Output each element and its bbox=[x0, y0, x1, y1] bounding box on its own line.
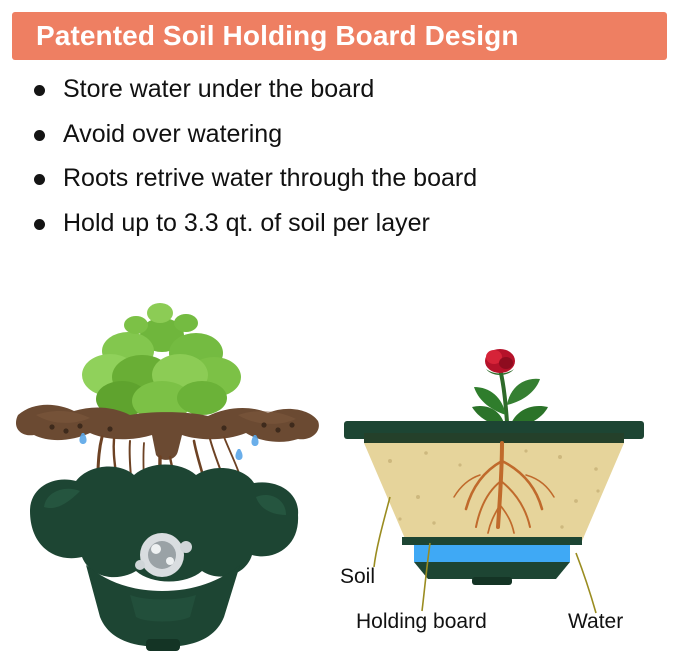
water-reservoir bbox=[414, 545, 570, 562]
bullet-dot-icon bbox=[34, 174, 45, 185]
list-item-label: Roots retrive water through the board bbox=[63, 161, 477, 197]
list-item-label: Store water under the board bbox=[63, 72, 374, 108]
cross-section-illustration bbox=[330, 265, 679, 660]
soil-fill bbox=[364, 443, 624, 541]
feature-list: Store water under the board Avoid over w… bbox=[22, 72, 662, 250]
bullet-dot-icon bbox=[34, 130, 45, 141]
list-item: Store water under the board bbox=[22, 72, 662, 108]
label-water: Water bbox=[568, 610, 623, 634]
list-item: Avoid over watering bbox=[22, 117, 662, 153]
label-soil: Soil bbox=[340, 565, 375, 589]
label-holding-board: Holding board bbox=[356, 610, 487, 634]
figure-row: Soil Holding board Water bbox=[0, 265, 679, 660]
bullet-dot-icon bbox=[34, 219, 45, 230]
list-item-label: Avoid over watering bbox=[63, 117, 282, 153]
cross-section-diagram: Soil Holding board Water bbox=[330, 265, 679, 660]
page-title: Patented Soil Holding Board Design bbox=[12, 20, 519, 52]
list-item: Roots retrive water through the board bbox=[22, 161, 662, 197]
product-infographic: Patented Soil Holding Board Design Store… bbox=[0, 0, 679, 660]
holding-board-layer bbox=[402, 537, 582, 545]
list-item: Hold up to 3.3 qt. of soil per layer bbox=[22, 206, 662, 242]
pot-foot bbox=[472, 577, 512, 585]
header-banner: Patented Soil Holding Board Design bbox=[12, 12, 667, 60]
planter-tier-middle bbox=[30, 465, 298, 582]
list-item-label: Hold up to 3.3 qt. of soil per layer bbox=[63, 206, 430, 242]
planter-illustration bbox=[10, 265, 330, 660]
rose-flower-icon bbox=[485, 349, 515, 375]
foliage-group bbox=[82, 303, 241, 421]
stacked-planter-photo bbox=[10, 265, 330, 660]
top-soil-band bbox=[364, 433, 624, 443]
pot-base bbox=[414, 562, 570, 579]
bullet-dot-icon bbox=[34, 85, 45, 96]
